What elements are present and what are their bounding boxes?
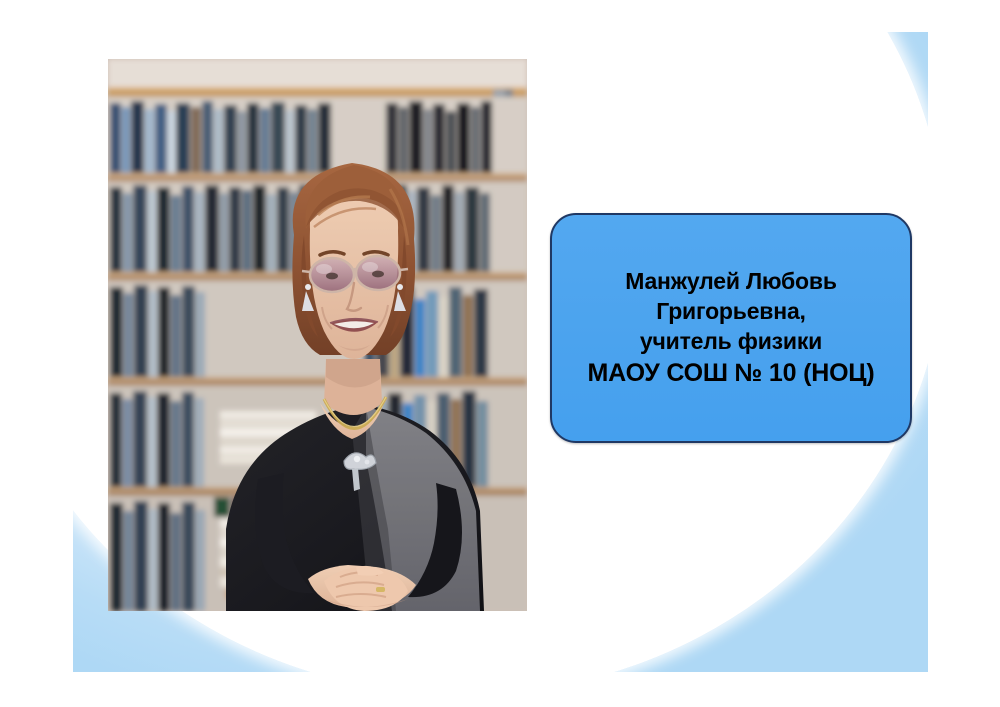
teacher-info-text: Манжулей Любовь Григорьевна, учитель физ… <box>578 267 885 389</box>
callout-line-2: Григорьевна, <box>588 297 875 327</box>
callout-line-4: МАОУ СОШ № 10 (НОЦ) <box>588 357 875 390</box>
teacher-info-callout: Манжулей Любовь Григорьевна, учитель физ… <box>550 213 912 443</box>
portrait-photo-image <box>108 59 527 611</box>
callout-line-3: учитель физики <box>588 327 875 357</box>
portrait-photo <box>108 59 527 611</box>
callout-line-1: Манжулей Любовь <box>588 267 875 297</box>
slide-canvas: Манжулей Любовь Григорьевна, учитель физ… <box>0 0 1000 707</box>
